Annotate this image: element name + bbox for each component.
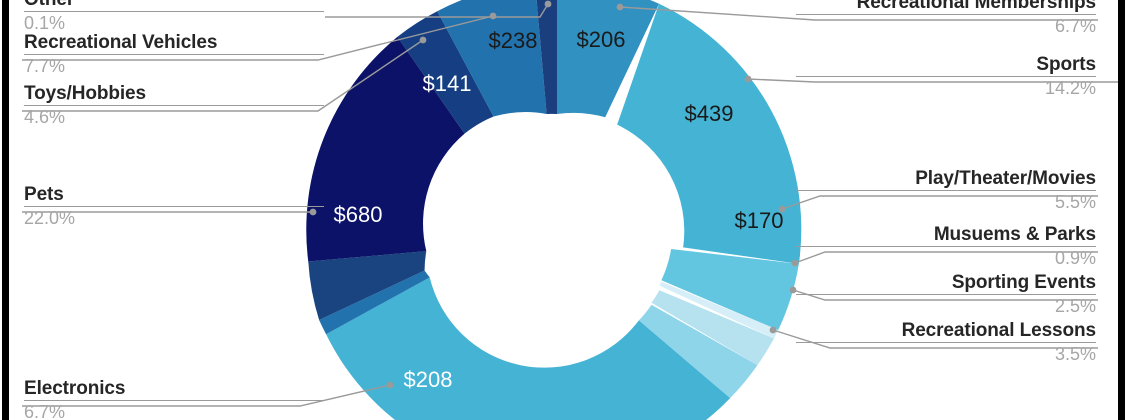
callout-museums-parks[interactable]: Musuems & Parks 0.9%: [796, 223, 1096, 270]
callout-electronics-percent: 6.7%: [24, 401, 324, 420]
callout-pets-percent: 22.0%: [24, 207, 324, 230]
callout-play-theater-movies-percent: 5.5%: [796, 191, 1096, 214]
chart-canvas: $206 $439 $170 $208 $680 $141 $238 Other…: [0, 0, 1140, 420]
callout-recreational-memberships-percent: 6.7%: [796, 15, 1096, 38]
callout-electronics-category: Electronics: [24, 377, 324, 400]
callout-recreational-memberships-category: Recreational Memberships: [796, 0, 1096, 14]
callout-toys-hobbies-category: Toys/Hobbies: [24, 82, 324, 105]
value-recreational-vehicles: $238: [489, 28, 538, 53]
callout-play-theater-movies[interactable]: Play/Theater/Movies 5.5%: [796, 167, 1096, 214]
callout-other-category: Other: [24, 0, 324, 11]
callout-recreational-lessons-category: Recreational Lessons: [796, 319, 1096, 342]
value-sports: $439: [685, 101, 734, 126]
callout-recreational-vehicles-category: Recreational Vehicles: [24, 31, 324, 54]
callout-toys-hobbies-percent: 4.6%: [24, 106, 324, 129]
callout-museums-parks-percent: 0.9%: [796, 247, 1096, 270]
value-play-theater-movies: $170: [735, 208, 784, 233]
callout-recreational-vehicles[interactable]: Recreational Vehicles 7.7%: [24, 31, 324, 78]
value-pets: $680: [334, 202, 383, 227]
callout-recreational-lessons[interactable]: Recreational Lessons 3.5%: [796, 319, 1096, 366]
callout-recreational-lessons-percent: 3.5%: [796, 343, 1096, 366]
callout-sports-percent: 14.2%: [796, 77, 1096, 100]
callout-recreational-vehicles-percent: 7.7%: [24, 55, 324, 78]
callout-sporting-events-category: Sporting Events: [796, 271, 1096, 294]
callout-recreational-memberships[interactable]: Recreational Memberships 6.7%: [796, 0, 1096, 38]
callout-pets-category: Pets: [24, 183, 324, 206]
callout-toys-hobbies[interactable]: Toys/Hobbies 4.6%: [24, 82, 324, 129]
callout-play-theater-movies-category: Play/Theater/Movies: [796, 167, 1096, 190]
callout-sporting-events-percent: 2.5%: [796, 295, 1096, 318]
callout-sporting-events[interactable]: Sporting Events 2.5%: [796, 271, 1096, 318]
callout-electronics[interactable]: Electronics 6.7%: [24, 377, 324, 420]
callout-museums-parks-category: Musuems & Parks: [796, 223, 1096, 246]
callout-sports[interactable]: Sports 14.2%: [796, 53, 1096, 100]
value-electronics: $208: [404, 367, 453, 392]
callout-other[interactable]: Other 0.1%: [24, 0, 324, 35]
callout-sports-category: Sports: [796, 53, 1096, 76]
value-recreational-memberships: $206: [577, 27, 626, 52]
value-toys-hobbies: $141: [423, 71, 472, 96]
callout-pets[interactable]: Pets 22.0%: [24, 183, 324, 230]
